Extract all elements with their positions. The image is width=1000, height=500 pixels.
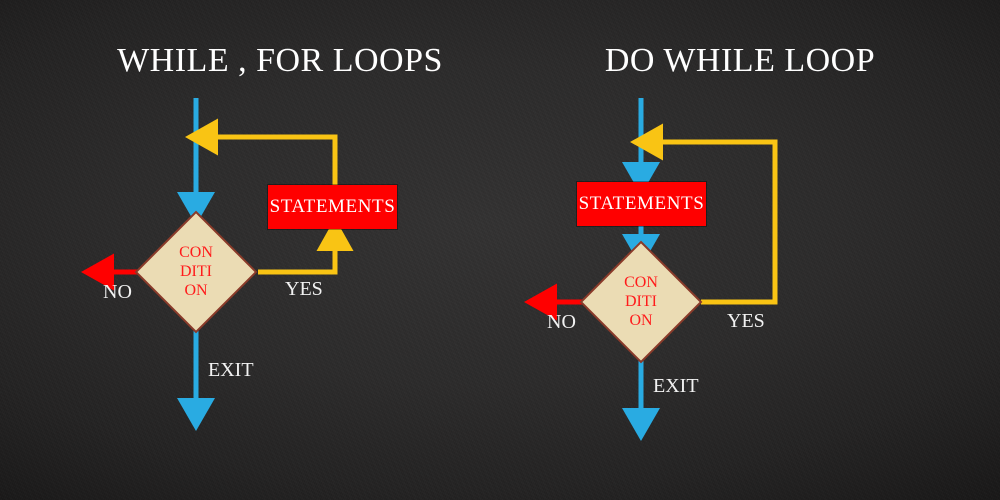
statement-box-chart2[interactable]: STATEMENTS	[577, 182, 706, 226]
statement-box-chart1[interactable]: STATEMENTS	[268, 185, 397, 229]
edge-label-no-chart1: NO	[103, 281, 132, 304]
decision-label-line-2: DITI	[146, 262, 246, 281]
decision-label-line-1: CON	[591, 273, 691, 292]
edge-label-yes-chart1: YES	[285, 278, 323, 301]
chart-title-do-while-loop: DO WHILE LOOP	[540, 42, 940, 80]
edge-loop-back-chart1	[202, 137, 335, 185]
chart-title-while-for-loops: WHILE , FOR LOOPS	[60, 42, 500, 80]
decision-label-line-1: CON	[146, 243, 246, 262]
decision-label-line-3: ON	[591, 311, 691, 330]
slide-canvas: WHILE , FOR LOOPS DO WHILE LOOP STA	[0, 0, 1000, 500]
edge-yes-chart1	[258, 235, 335, 272]
statement-box-label-chart1: STATEMENTS	[270, 196, 396, 218]
edge-label-yes-chart2: YES	[727, 310, 765, 333]
decision-label-chart2: CON DITI ON	[591, 273, 691, 330]
decision-label-chart1: CON DITI ON	[146, 243, 246, 300]
decision-label-line-2: DITI	[591, 292, 691, 311]
edge-label-exit-chart2: EXIT	[653, 375, 699, 398]
edge-label-no-chart2: NO	[547, 311, 576, 334]
edge-label-exit-chart1: EXIT	[208, 359, 254, 382]
decision-label-line-3: ON	[146, 281, 246, 300]
statement-box-label-chart2: STATEMENTS	[579, 193, 705, 215]
